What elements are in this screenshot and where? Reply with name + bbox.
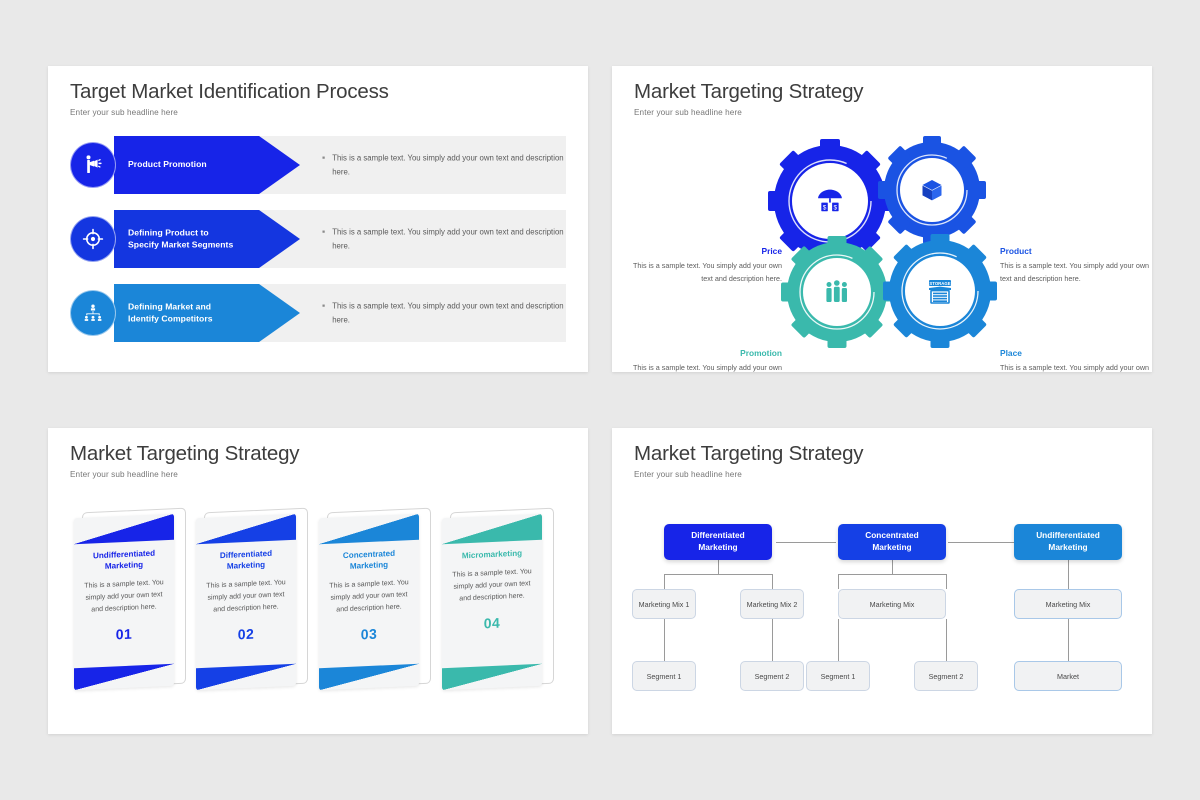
connector-line	[946, 574, 947, 589]
card-body-text: This is a sample text. You simply add yo…	[80, 577, 168, 617]
card-bottom-accent	[319, 664, 419, 691]
bullet-icon: ▪	[322, 225, 325, 252]
card-body-text: This is a sample text. You simply add yo…	[202, 577, 290, 617]
row-label: Defining Market andIdentify Competitors	[128, 301, 213, 324]
card-content: ConcentratedMarketing This is a sample t…	[319, 548, 419, 644]
org-mid-box[interactable]: Marketing Mix 1	[632, 589, 696, 619]
org-top-concentrated[interactable]: ConcentratedMarketing	[838, 524, 946, 560]
org-mid-box[interactable]: Marketing Mix	[838, 589, 946, 619]
card-number: 04	[448, 613, 536, 633]
connector-line	[948, 542, 1014, 543]
row-description: ▪ This is a sample text. You simply add …	[322, 151, 566, 178]
connector-line	[664, 574, 772, 575]
card-number: 02	[202, 624, 290, 644]
bullet-icon: ▪	[322, 151, 325, 178]
card-heading: UndifferentiatedMarketing	[80, 548, 168, 574]
org-mid-box[interactable]: Marketing Mix 2	[740, 589, 804, 619]
row-description: ▪ This is a sample text. You simply add …	[322, 299, 566, 326]
strategy-card[interactable]: UndifferentiatedMarketing This is a samp…	[74, 516, 186, 694]
gear-promotion	[781, 236, 893, 348]
card-number: 03	[325, 624, 413, 644]
row-description-text: This is a sample text. You simply add yo…	[332, 225, 566, 252]
org-leaf-box[interactable]: Segment 1	[806, 661, 870, 691]
org-people-icon	[81, 301, 105, 325]
row-description-text: This is a sample text. You simply add yo…	[332, 299, 566, 326]
org-mid-box[interactable]: Marketing Mix	[1014, 589, 1122, 619]
bullet-icon: ▪	[322, 299, 325, 326]
card-content: DifferentiatedMarketing This is a sample…	[196, 548, 296, 644]
row-label: Defining Product toSpecify Market Segmen…	[128, 227, 233, 250]
gear-product	[878, 136, 986, 244]
connector-line	[718, 560, 719, 574]
strategy-card[interactable]: Micromarketing This is a sample text. Yo…	[442, 516, 554, 694]
row-description-text: This is a sample text. You simply add yo…	[332, 151, 566, 178]
connector-line	[1068, 560, 1069, 589]
card-surface: ConcentratedMarketing This is a sample t…	[319, 514, 419, 691]
connector-line	[772, 619, 773, 661]
connector-line	[838, 574, 946, 575]
card-bottom-accent	[74, 664, 174, 691]
slide-market-targeting-cards[interactable]: Market Targeting Strategy Enter your sub…	[48, 428, 588, 734]
gear-label-price: Price This is a sample text. You simply …	[630, 244, 782, 285]
row-icon-badge	[70, 142, 116, 188]
org-chart: DifferentiatedMarketing ConcentratedMark…	[612, 428, 1152, 734]
connector-line	[664, 574, 665, 589]
card-top-accent	[319, 514, 419, 545]
target-crosshair-icon	[81, 227, 105, 251]
svg-text:$: $	[834, 205, 838, 212]
connector-line	[772, 574, 773, 589]
card-top-accent	[196, 514, 296, 545]
card-content: UndifferentiatedMarketing This is a samp…	[74, 548, 174, 644]
gear-desc-promotion: This is a sample text. You simply add yo…	[633, 363, 782, 372]
connector-line	[838, 619, 839, 661]
card-number: 01	[80, 624, 168, 644]
slide-market-targeting-orgchart[interactable]: Market Targeting Strategy Enter your sub…	[612, 428, 1152, 734]
card-body-text: This is a sample text. You simply add yo…	[448, 566, 536, 606]
process-row[interactable]: Product Promotion ▪ This is a sample tex…	[70, 136, 566, 194]
card-surface: DifferentiatedMarketing This is a sample…	[196, 514, 296, 691]
org-top-undifferentiated[interactable]: UndifferentiatedMarketing	[1014, 524, 1122, 560]
connector-line	[946, 619, 947, 661]
card-surface: Micromarketing This is a sample text. Yo…	[442, 514, 542, 691]
gear-label-product: Product This is a sample text. You simpl…	[1000, 244, 1152, 285]
page-subtitle: Enter your sub headline here	[70, 108, 178, 117]
gear-label-place: Place This is a sample text. You simply …	[1000, 346, 1152, 372]
strategy-card[interactable]: DifferentiatedMarketing This is a sample…	[196, 516, 308, 694]
presentation-canvas: Target Market Identification Process Ent…	[0, 0, 1200, 800]
card-top-accent	[74, 514, 174, 545]
row-label: Product Promotion	[128, 159, 207, 171]
row-icon-badge	[70, 290, 116, 336]
connector-line	[1068, 619, 1069, 661]
slide-market-targeting-gears[interactable]: Market Targeting Strategy Enter your sub…	[612, 66, 1152, 372]
card-list: UndifferentiatedMarketing This is a samp…	[48, 428, 588, 734]
gear-diagram: $ $	[612, 66, 1152, 372]
strategy-card[interactable]: ConcentratedMarketing This is a sample t…	[319, 516, 431, 694]
card-content: Micromarketing This is a sample text. Yo…	[442, 548, 542, 634]
card-heading: Micromarketing	[448, 548, 536, 563]
connector-line	[776, 542, 836, 543]
megaphone-person-icon	[81, 153, 105, 177]
card-bottom-accent	[196, 664, 296, 691]
gear-place: STORAGE	[883, 234, 997, 348]
org-leaf-box[interactable]: Segment 1	[632, 661, 696, 691]
row-icon-badge	[70, 216, 116, 262]
org-leaf-box[interactable]: Segment 2	[740, 661, 804, 691]
card-top-accent	[442, 514, 542, 545]
card-heading: ConcentratedMarketing	[325, 548, 413, 574]
connector-line	[892, 560, 893, 574]
org-leaf-box[interactable]: Market	[1014, 661, 1122, 691]
org-top-differentiated[interactable]: DifferentiatedMarketing	[664, 524, 772, 560]
connector-line	[664, 619, 665, 661]
svg-text:STORAGE: STORAGE	[929, 281, 950, 286]
gear-desc-product: This is a sample text. You simply add yo…	[1000, 261, 1149, 282]
card-surface: UndifferentiatedMarketing This is a samp…	[74, 514, 174, 691]
page-title: Target Market Identification Process	[70, 80, 389, 104]
org-leaf-box[interactable]: Segment 2	[914, 661, 978, 691]
process-row[interactable]: Defining Product toSpecify Market Segmen…	[70, 210, 566, 268]
card-heading: DifferentiatedMarketing	[202, 548, 290, 574]
card-bottom-accent	[442, 664, 542, 691]
gear-desc-price: This is a sample text. You simply add yo…	[633, 261, 782, 282]
row-description: ▪ This is a sample text. You simply add …	[322, 225, 566, 252]
slide-target-market-identification[interactable]: Target Market Identification Process Ent…	[48, 66, 588, 372]
gear-label-promotion: Promotion This is a sample text. You sim…	[630, 346, 782, 372]
svg-text:$: $	[823, 205, 827, 212]
process-row[interactable]: Defining Market andIdentify Competitors …	[70, 284, 566, 342]
connector-line	[838, 574, 839, 589]
people-group-icon	[826, 280, 847, 302]
gear-cluster-graphic: $ $	[612, 66, 1152, 372]
gear-desc-place: This is a sample text. You simply add yo…	[1000, 363, 1149, 372]
card-body-text: This is a sample text. You simply add yo…	[325, 577, 413, 617]
